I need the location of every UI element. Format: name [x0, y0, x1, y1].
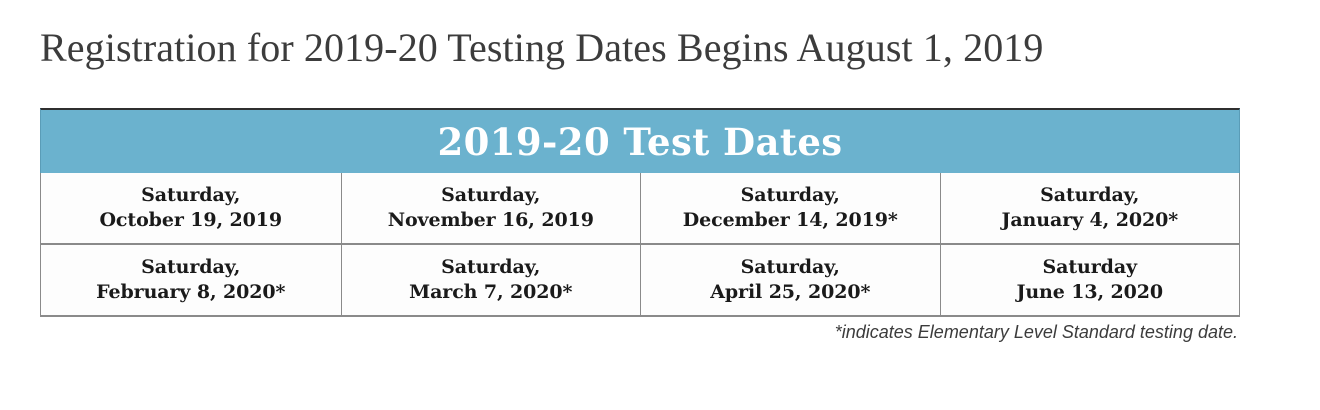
- date-cell-date: January 4, 2020*: [1001, 208, 1178, 233]
- date-cell-weekday: Saturday,: [741, 255, 840, 280]
- test-dates-table: 2019-20 Test Dates Saturday, October 19,…: [40, 108, 1240, 317]
- date-cell-weekday: Saturday,: [441, 183, 540, 208]
- date-cell-weekday: Saturday,: [141, 183, 240, 208]
- date-cell-date: November 16, 2019: [388, 208, 594, 233]
- date-cell-june: Saturday June 13, 2020: [940, 245, 1240, 315]
- date-cell-weekday: Saturday,: [1040, 183, 1139, 208]
- table-row: Saturday, October 19, 2019 Saturday, Nov…: [41, 173, 1239, 243]
- date-cell-date: October 19, 2019: [99, 208, 282, 233]
- date-cell-december: Saturday, December 14, 2019*: [640, 173, 940, 243]
- date-cell-date: April 25, 2020*: [710, 280, 870, 305]
- date-cell-date: March 7, 2020*: [409, 280, 572, 305]
- date-cell-weekday: Saturday,: [741, 183, 840, 208]
- date-cell-april: Saturday, April 25, 2020*: [640, 245, 940, 315]
- date-cell-weekday: Saturday: [1043, 255, 1137, 280]
- page-title: Registration for 2019-20 Testing Dates B…: [40, 24, 1280, 72]
- date-cell-november: Saturday, November 16, 2019: [341, 173, 641, 243]
- date-cell-weekday: Saturday,: [141, 255, 240, 280]
- date-cell-october: Saturday, October 19, 2019: [41, 173, 341, 243]
- date-cell-february: Saturday, February 8, 2020*: [41, 245, 341, 315]
- table-row: Saturday, February 8, 2020* Saturday, Ma…: [41, 243, 1239, 315]
- table-header-bar: 2019-20 Test Dates: [40, 108, 1240, 173]
- date-cell-date: December 14, 2019*: [683, 208, 898, 233]
- date-cell-march: Saturday, March 7, 2020*: [341, 245, 641, 315]
- page-root: Registration for 2019-20 Testing Dates B…: [0, 0, 1320, 410]
- date-cell-date: June 13, 2020: [1016, 280, 1163, 305]
- date-cell-january: Saturday, January 4, 2020*: [940, 173, 1240, 243]
- date-cell-date: February 8, 2020*: [96, 280, 285, 305]
- table-header-title: 2019-20 Test Dates: [437, 122, 842, 162]
- footnote-text: *indicates Elementary Level Standard tes…: [835, 320, 1238, 344]
- table-body: Saturday, October 19, 2019 Saturday, Nov…: [40, 173, 1240, 317]
- date-cell-weekday: Saturday,: [441, 255, 540, 280]
